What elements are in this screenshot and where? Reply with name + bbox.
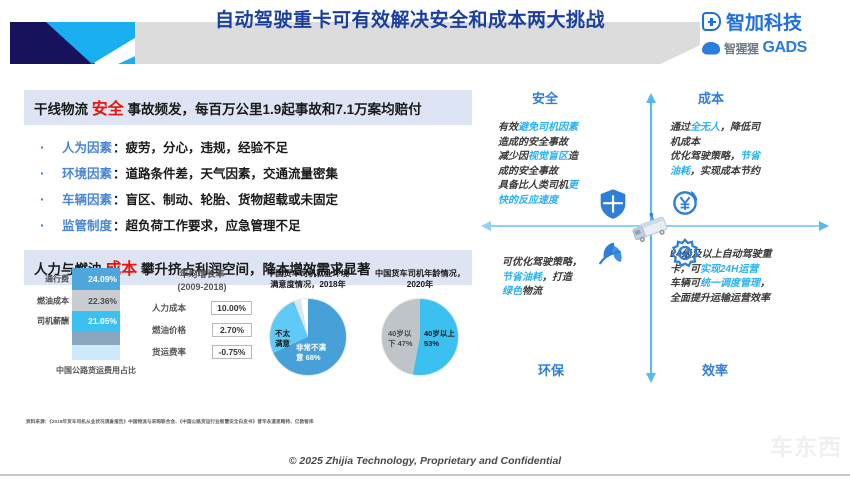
ape-icon (702, 42, 720, 55)
quadrant-text-line: 优化驾驶策略，节省 (670, 150, 805, 165)
brand-name: 智加科技 (726, 8, 802, 35)
quadrant-text-line: 通过全无人，降低司 (670, 121, 805, 136)
quadrant-text-run: 物流 (522, 286, 542, 297)
bullet-dot-icon: · (40, 191, 62, 207)
zhijia-mark-icon (702, 12, 721, 31)
bullet-text: ：超负荷工作要求，应急管理不足 (113, 215, 301, 234)
partner-logo: 智猩猩 GADS (702, 39, 842, 57)
bar-segment-value: 21.05% (88, 316, 117, 326)
quadrant-text-run: ，打造 (542, 272, 572, 283)
growth-row: 人力成本10.00% (152, 301, 252, 315)
bar-segment (72, 345, 120, 360)
truck-icon (628, 210, 676, 251)
quadrant-text-run: 全无人 (690, 122, 720, 133)
quadrant-head-eff: 效率 (702, 360, 728, 379)
left-column: 干线物流 安全 事故频发，每百万公里1.9起事故和7.1万案均赔付 ·人为因素：… (24, 90, 472, 285)
bar-segment: 通行费24.09% (72, 268, 120, 290)
benefits-quadrant-diagram: 安全 成本 环保 效率 有效避免司机因素造成的安全事故减少因视觉盲区造成的安全事… (480, 88, 840, 388)
page-title: 自动驾驶重卡可有效解决安全和成本两大挑战 (150, 0, 670, 42)
quadrant-text-line: 造成的安全事故 (498, 136, 626, 151)
growth-title-sub: (2009-2018) (152, 281, 252, 294)
quadrant-text-run: 具备比人类司机 (498, 180, 568, 191)
quadrant-text-line: 减少因视觉盲区造 (498, 150, 626, 165)
quadrant-text-run: 优化驾驶策略， (670, 151, 740, 162)
pie2-graphic: 40岁以上53%40岁以下 47% (381, 298, 459, 376)
bullet-item: ·车辆因素：盲区、制动、轮胎、货物超载或未固定 (40, 189, 472, 208)
quadrant-text-run: 有效 (498, 122, 518, 133)
safety-bullet-list: ·人为因素：疲劳，分心，违规，经验不足·环境因素：道路条件差，天气因素，交通流量… (24, 137, 472, 234)
quadrant-text-run: 节省 (740, 151, 760, 162)
bar-segment-value: 22.36% (88, 296, 117, 306)
quadrant-text-run: 造 (568, 151, 578, 162)
quadrant-text-line: 成的安全事故 (498, 165, 626, 180)
growth-row-label: 燃油价格 (152, 324, 186, 336)
growth-row-value: 10.00% (211, 301, 252, 315)
quadrant-text-run: 油耗 (670, 166, 690, 177)
quadrant-text-line: 绿色物流 (502, 285, 622, 300)
quadrant-text-line: 有效避免司机因素 (498, 121, 626, 136)
growth-row: 燃油价格2.70% (152, 323, 252, 337)
growth-rows: 人力成本10.00%燃油价格2.70%货运费率-0.75% (152, 301, 252, 359)
quadrant-text-run: 通过 (670, 122, 690, 133)
quadrant-text-run: 全面提升运输运营效率 (670, 293, 770, 304)
pie-slice-label: 不太满意 (275, 329, 290, 349)
stacked-bar-column: 通行费24.09%燃油成本22.36%司机薪酬21.05% (72, 268, 120, 360)
bar-segment: 司机薪酬21.05% (72, 311, 120, 331)
brand-logo: 智加科技 (702, 8, 842, 35)
bullet-dot-icon: · (40, 139, 62, 155)
quadrant-text-run: 节省油耗 (502, 272, 542, 283)
growth-rate-table: 年均增长率 (2009-2018) 人力成本10.00%燃油价格2.70%货运费… (152, 268, 252, 359)
pie-slice-label: 40岁以上53% (424, 329, 455, 349)
pie1-title-sub: 满意度情况，2018年 (252, 279, 364, 290)
quadrant-text-run: 成的安全事故 (498, 166, 558, 177)
growth-row-value: -0.75% (212, 345, 252, 359)
bullet-key: 环境因素 (62, 163, 112, 182)
bullet-text: ：盲区、制动、轮胎、货物超载或未固定 (113, 189, 338, 208)
quadrant-text-line: 车辆可统一调度管理， (670, 277, 818, 292)
quadrant-head-safety: 安全 (532, 88, 558, 107)
quadrant-text-run: 快的反应速度 (498, 195, 558, 206)
bar-segment-value: 24.09% (88, 274, 117, 284)
pie1-graphic: 非常不满意 68%不太满意 (269, 298, 347, 376)
bar-segment: 燃油成本22.36% (72, 290, 120, 311)
growth-row-value: 2.70% (212, 323, 252, 337)
driver-satisfaction-pie: 中国货车司机就业环境 满意度情况，2018年 非常不满意 68%不太满意 (252, 268, 364, 376)
data-strip: 通行费24.09%燃油成本22.36%司机薪酬21.05% 中国公路货运费用占比… (24, 268, 474, 388)
pie-slice-label: 非常不满意 68% (296, 343, 326, 363)
copyright-text: © 2025 Zhijia Technology, Proprietary an… (0, 455, 850, 467)
bar-segment-label: 司机薪酬 (37, 315, 69, 326)
quadrant-text-run: 车辆可 (670, 278, 700, 289)
quadrant-text-run: 机成本 (670, 137, 700, 148)
bullet-text: ：道路条件差，天气因素，交通流量密集 (113, 163, 338, 182)
quadrant-text-run: ，实现成本节约 (690, 166, 760, 177)
source-note: 资料来源：《2018年货车司机从业状况调查报告》中国物流与采购联合会、《中国公路… (26, 419, 586, 425)
bar-chart-caption: 中国公路货运费用占比 (36, 365, 156, 376)
bullet-key: 监管制度 (62, 215, 112, 234)
quadrant-text-run: 造成的安全事故 (498, 137, 568, 148)
quadrant-text-run: 更 (568, 180, 578, 191)
growth-row: 货运费率-0.75% (152, 345, 252, 359)
bullet-text: ：疲劳，分心，违规，经验不足 (113, 137, 288, 156)
pie2-title-main: 中国货车司机年龄情况， (364, 268, 476, 279)
growth-row-label: 人力成本 (152, 302, 186, 314)
bullet-dot-icon: · (40, 165, 62, 181)
footer-divider (0, 474, 850, 476)
growth-table-title: 年均增长率 (2009-2018) (152, 268, 252, 293)
bullet-item: ·人为因素：疲劳，分心，违规，经验不足 (40, 137, 472, 156)
quadrant-text-run: 视觉盲区 (528, 151, 568, 162)
quadrant-text-run: 绿色 (502, 286, 522, 297)
safety-band-highlight: 安全 (92, 101, 124, 118)
bullet-item: ·环境因素：道路条件差，天气因素，交通流量密集 (40, 163, 472, 182)
quadrant-text-line: 机成本 (670, 136, 805, 151)
pie2-title: 中国货车司机年龄情况， 2020年 (364, 268, 476, 290)
pie2-title-sub: 2020年 (364, 279, 476, 290)
quadrant-text-run: 可优化驾驶策略， (502, 257, 582, 268)
bar-segment-label: 通行费 (45, 274, 69, 285)
bar-segment (72, 331, 120, 345)
pie1-title: 中国货车司机就业环境 满意度情况，2018年 (252, 268, 364, 290)
logo-group: 智加科技 智猩猩 GADS (702, 8, 842, 57)
bullet-item: ·监管制度：超负荷工作要求，应急管理不足 (40, 215, 472, 234)
pie1-title-main: 中国货车司机就业环境 (252, 268, 364, 279)
pie-slice-label: 40岁以下 47% (388, 329, 413, 349)
watermark: 车东西 (770, 428, 842, 462)
leaf-icon (598, 240, 630, 273)
driver-age-pie: 中国货车司机年龄情况， 2020年 40岁以上53%40岁以下 47% (364, 268, 476, 376)
quadrant-text-line: 油耗，实现成本节约 (670, 165, 805, 180)
partner-name-cn: 智猩猩 (724, 40, 759, 57)
shield-icon (598, 188, 628, 225)
safety-band: 干线物流 安全 事故频发，每百万公里1.9起事故和7.1万案均赔付 (24, 90, 472, 125)
quadrant-text-cost: 通过全无人，降低司机成本优化驾驶策略，节省油耗，实现成本节约 (670, 121, 805, 179)
quadrant-text-run: ，降低司 (720, 122, 760, 133)
bullet-dot-icon: · (40, 217, 62, 233)
safety-band-post: 事故频发，每百万公里1.9起事故和7.1万案均赔付 (128, 102, 422, 117)
growth-row-label: 货运费率 (152, 346, 186, 358)
quadrant-text-line: 全面提升运输运营效率 (670, 292, 818, 307)
quadrant-head-cost: 成本 (698, 88, 724, 107)
partner-name-en: GADS (763, 39, 807, 57)
quadrant-text-run: 统一调度管理 (700, 278, 760, 289)
quadrant-head-env: 环保 (538, 360, 564, 379)
quadrant-text-run: ， (760, 278, 770, 289)
growth-title-main: 年均增长率 (152, 268, 252, 281)
bullet-key: 车辆因素 (62, 189, 112, 208)
safety-band-pre: 干线物流 (34, 102, 88, 117)
bar-segment-label: 燃油成本 (37, 295, 69, 306)
quadrant-text-run: 避免司机因素 (518, 122, 578, 133)
bullet-key: 人为因素 (62, 137, 112, 156)
slide-canvas: 自动驾驶重卡可有效解决安全和成本两大挑战 智加科技 智猩猩 GADS 干线物流 … (0, 0, 850, 480)
quadrant-text-run: 减少因 (498, 151, 528, 162)
quadrant-text-run: 实现24H运营 (700, 264, 758, 275)
